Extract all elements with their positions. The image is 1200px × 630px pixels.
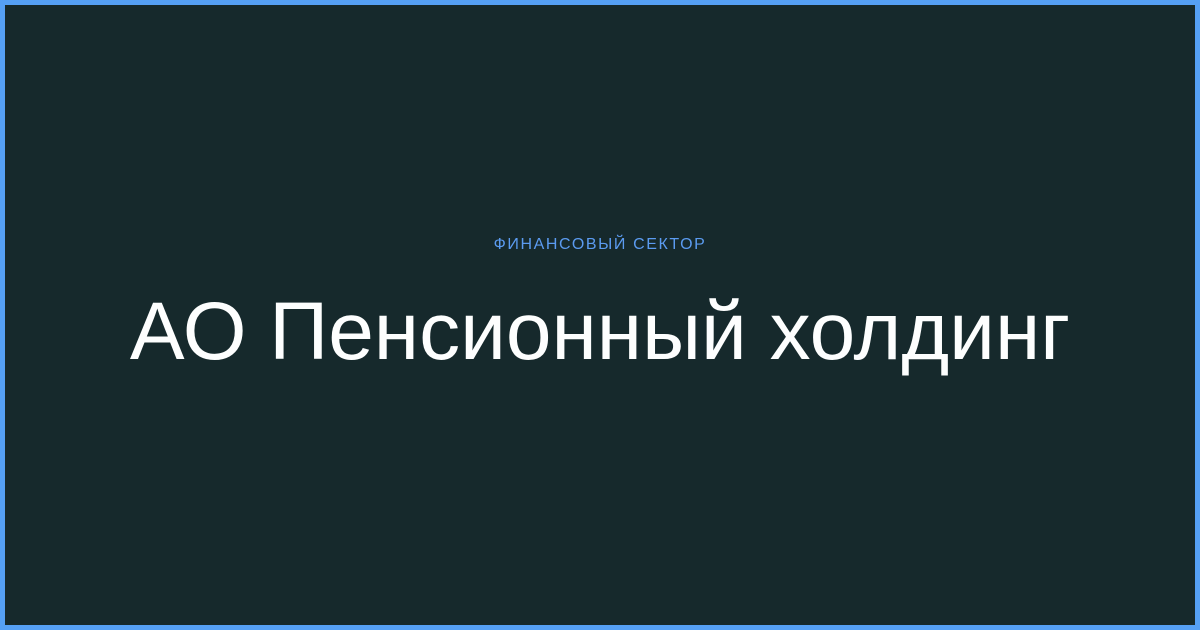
card-eyebrow-category: ФИНАНСОВЫЙ СЕКТОР (494, 237, 707, 253)
card-title: АО Пенсионный холдинг (130, 291, 1070, 373)
social-card: ФИНАНСОВЫЙ СЕКТОР АО Пенсионный холдинг (0, 0, 1200, 630)
card-content: ФИНАНСОВЫЙ СЕКТОР АО Пенсионный холдинг (5, 237, 1195, 373)
